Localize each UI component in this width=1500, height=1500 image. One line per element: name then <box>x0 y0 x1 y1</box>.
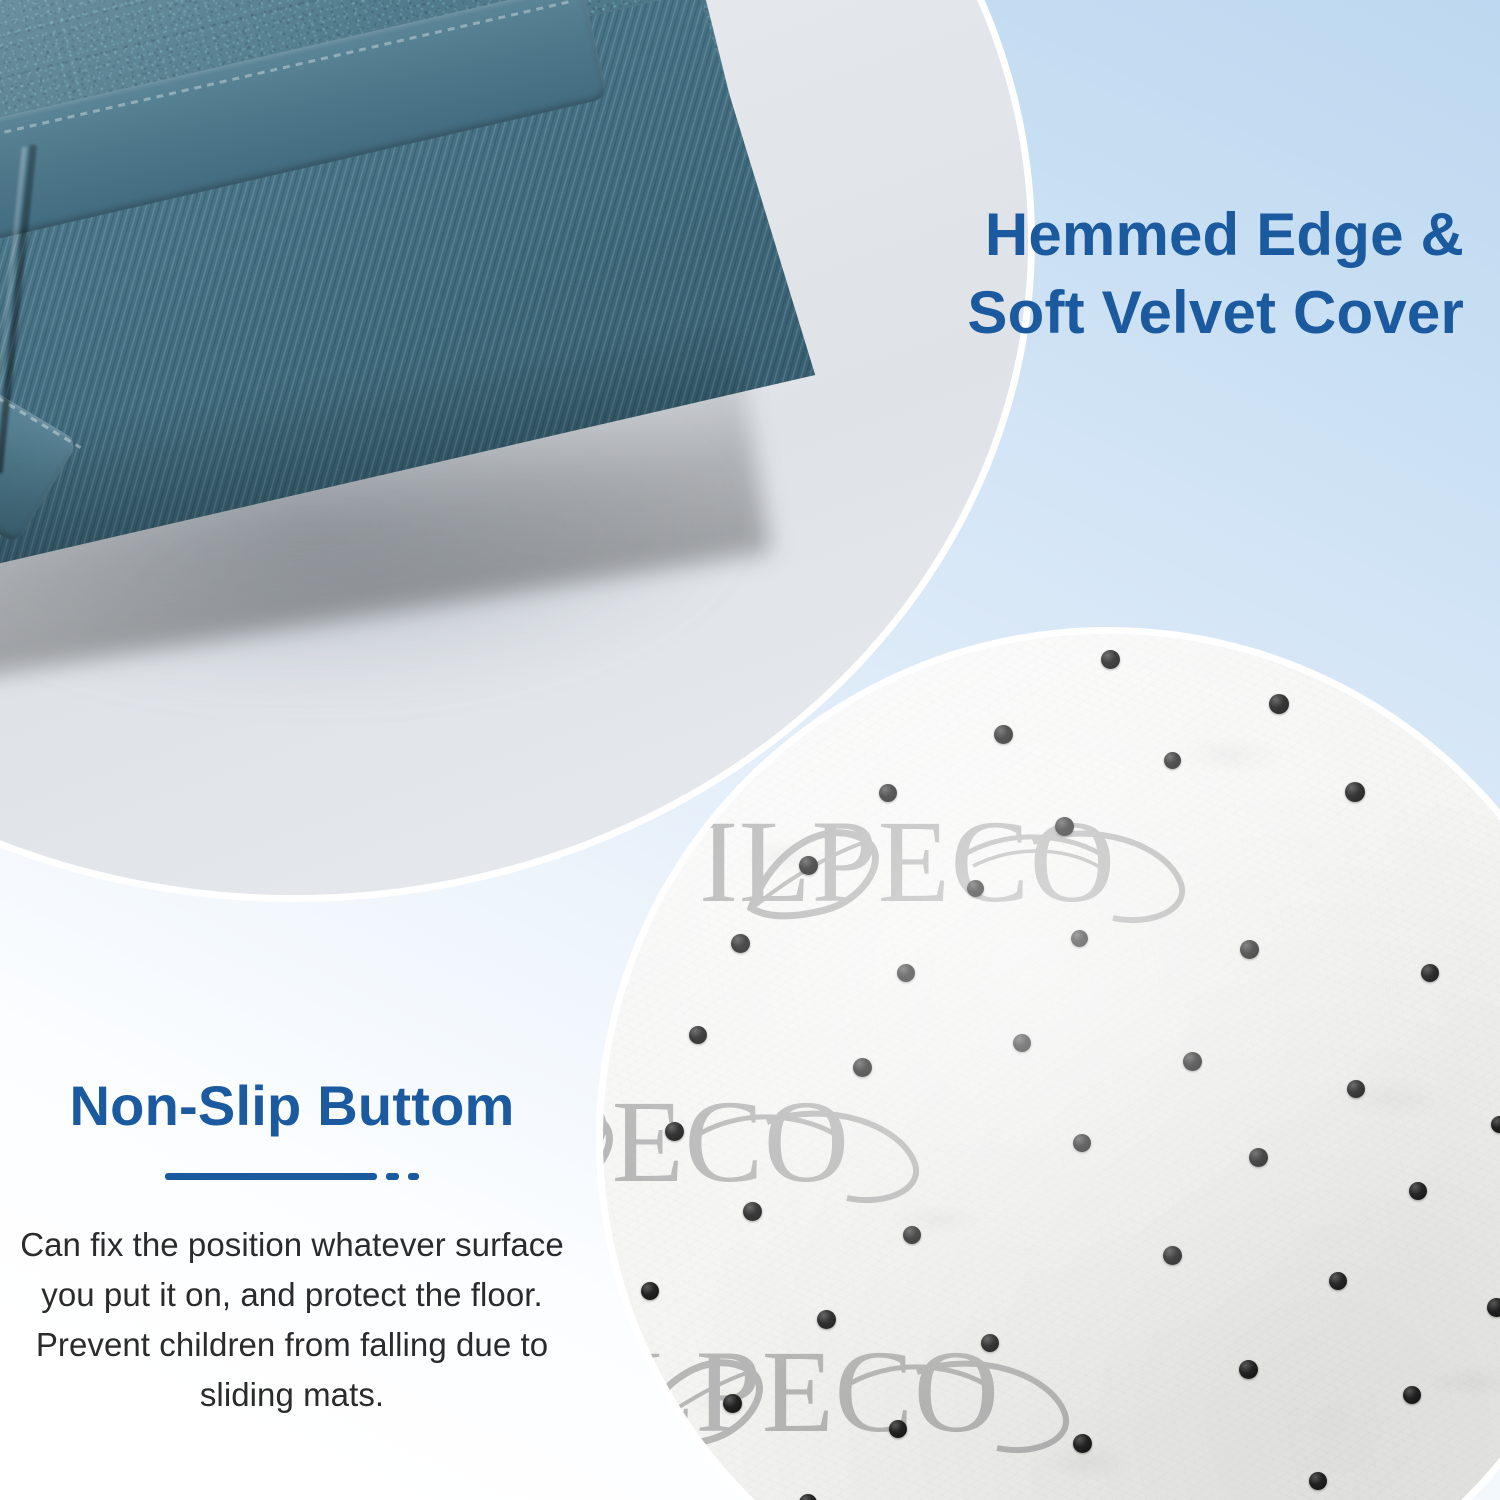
divider-bar <box>165 1173 377 1180</box>
heading-divider <box>14 1173 570 1180</box>
non-slip-bottom-photo-circle: ILPECO ILPECO ILPECO <box>603 634 1500 1500</box>
headline-line-2: Soft Velvet Cover <box>824 274 1464 352</box>
non-slip-body-text: Can fix the position whatever surfaceyou… <box>14 1220 570 1421</box>
divider-dash-1 <box>386 1173 399 1180</box>
top-feature-headline: Hemmed Edge & Soft Velvet Cover <box>824 196 1464 352</box>
non-slip-heading: Non-Slip Buttom <box>14 1075 570 1137</box>
headline-line-1: Hemmed Edge & <box>824 196 1464 274</box>
grip-dot <box>1431 708 1449 726</box>
divider-dash-2 <box>408 1173 419 1180</box>
bottom-feature-block: Non-Slip Buttom Can fix the position wha… <box>14 1075 570 1420</box>
product-infographic: ILPECO ILPECO ILPECO <box>0 0 1500 1500</box>
